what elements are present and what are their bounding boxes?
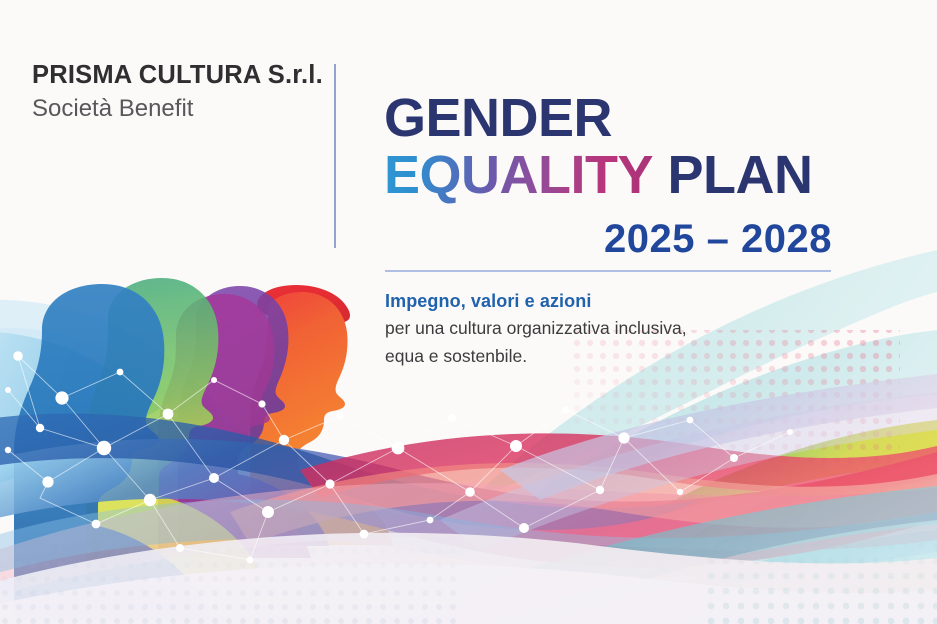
head-profile-blue bbox=[14, 284, 212, 621]
network-overlay bbox=[8, 356, 790, 560]
hair-red bbox=[257, 285, 350, 323]
head-profile-orange bbox=[250, 285, 393, 545]
organization-name: PRISMA CULTURA S.r.l. bbox=[32, 60, 317, 90]
horizontal-divider bbox=[385, 270, 831, 272]
head-profiles bbox=[14, 278, 393, 621]
title-line-equality-plan: EQUALITY PLAN bbox=[384, 147, 904, 204]
subtitle-block: Impegno, valori e azioni per una cultura… bbox=[385, 288, 835, 369]
head-profile-violet bbox=[178, 286, 329, 546]
subtitle-line-1: per una cultura organizzativa inclusiva, bbox=[385, 315, 835, 342]
title-word-equality: EQUALITY bbox=[384, 145, 653, 205]
organization-logo-block: PRISMA CULTURA S.r.l. Società Benefit bbox=[32, 60, 317, 124]
title-word-plan: PLAN bbox=[668, 145, 813, 205]
head-profile-magenta bbox=[158, 294, 311, 558]
head-profile-green-yellow bbox=[86, 278, 262, 580]
organization-subtitle: Società Benefit bbox=[32, 93, 317, 124]
wave-ribbons bbox=[0, 374, 937, 624]
halftone-dots-blue bbox=[0, 530, 460, 624]
network-nodes bbox=[5, 351, 793, 563]
title-line-gender: GENDER bbox=[384, 92, 904, 145]
face-orange bbox=[250, 292, 393, 545]
subtitle-line-2: equa e sostenbile. bbox=[385, 343, 835, 370]
subtitle-headline: Impegno, valori e azioni bbox=[385, 288, 835, 314]
title-block: GENDER EQUALITY PLAN 2025 – 2028 bbox=[384, 92, 904, 261]
vertical-divider bbox=[334, 64, 336, 248]
ribbon-light-blue-left bbox=[0, 328, 175, 488]
title-years: 2025 – 2028 bbox=[384, 217, 904, 261]
halftone-dots-teal bbox=[700, 520, 937, 624]
gender-equality-plan-cover: PRISMA CULTURA S.r.l. Società Benefit GE… bbox=[0, 0, 937, 624]
